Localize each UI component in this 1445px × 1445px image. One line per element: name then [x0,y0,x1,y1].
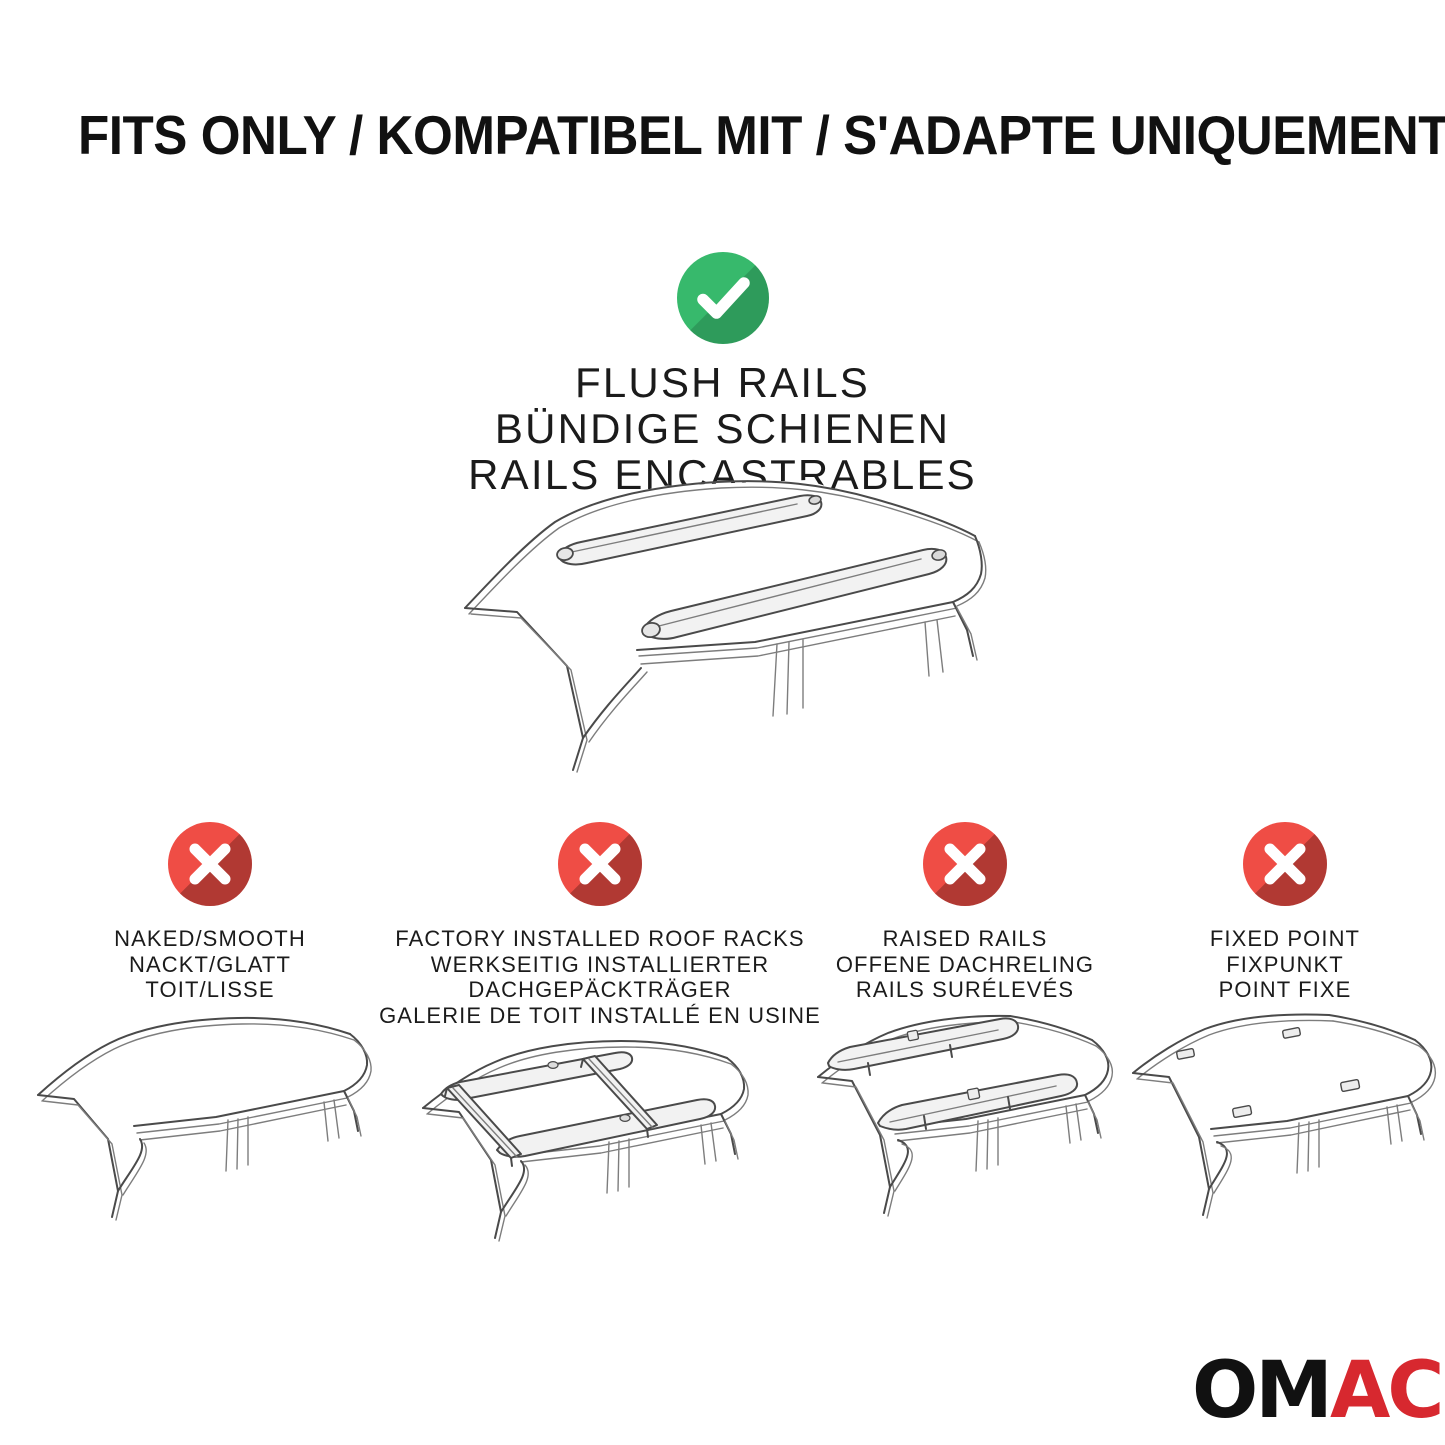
check-icon [677,252,769,344]
incompatible-labels: NAKED/SMOOTH NACKT/GLATT TOIT/LISSE [30,926,390,1003]
badge-wrapper [800,822,1130,926]
incompatible-item-fixed-point: FIXED POINT FIXPUNKT POINT FIXE [1125,822,1445,1228]
incompatible-labels: FIXED POINT FIXPUNKT POINT FIXE [1125,926,1445,1003]
label-fr: RAILS SURÉLEVÉS [800,977,1130,1003]
label-en: FIXED POINT [1125,926,1445,952]
cross-icon [558,822,642,906]
cross-icon [923,822,1007,906]
raised-rails-drawing [800,1013,1130,1228]
cross-glyph [923,822,1007,906]
car-roof-naked-illustration [30,1013,390,1228]
incompatible-section: NAKED/SMOOTH NACKT/GLATT TOIT/LISSE [0,822,1445,1252]
compatible-label-de: BÜNDIGE SCHIENEN [0,406,1445,452]
flush-rails-drawing [455,470,1000,780]
incompatible-labels: RAISED RAILS OFFENE DACHRELING RAILS SUR… [800,926,1130,1003]
omac-logo: OMAC [1192,1352,1442,1430]
incompatible-labels: FACTORY INSTALLED ROOF RACKS WERKSEITIG … [375,926,825,1028]
label-de: OFFENE DACHRELING [800,952,1130,978]
naked-roof-drawing [30,1013,390,1228]
badge-wrapper [30,822,390,926]
cross-glyph [168,822,252,906]
label-en: RAISED RAILS [800,926,1130,952]
badge-wrapper [375,822,825,926]
label-de: FIXPUNKT [1125,952,1445,978]
label-fr: TOIT/LISSE [30,977,390,1003]
car-roof-with-flush-rails-illustration [455,470,1000,780]
label-de-1: WERKSEITIG INSTALLIERTER [375,952,825,978]
cross-icon [168,822,252,906]
incompatible-item-factory-roof-rack: FACTORY INSTALLED ROOF RACKS WERKSEITIG … [375,822,825,1253]
label-de-2: DACHGEPÄCKTRÄGER [375,977,825,1003]
compatible-label-en: FLUSH RAILS [0,360,1445,406]
cross-glyph [1243,822,1327,906]
compatible-section: FLUSH RAILS BÜNDIGE SCHIENEN RAILS ENCAS… [0,252,1445,498]
factory-rack-drawing [375,1038,825,1253]
label-en: NAKED/SMOOTH [30,926,390,952]
car-roof-with-fixed-points-illustration [1125,1013,1445,1228]
logo-text-dark: OM [1192,1346,1330,1436]
label-de: NACKT/GLATT [30,952,390,978]
cross-icon [1243,822,1327,906]
logo-text-red: AC [1330,1346,1442,1436]
car-roof-with-factory-roof-rack-illustration [375,1038,825,1253]
label-fr: GALERIE DE TOIT INSTALLÉ EN USINE [375,1003,825,1029]
incompatible-item-naked-smooth: NAKED/SMOOTH NACKT/GLATT TOIT/LISSE [30,822,390,1228]
compatibility-infographic: FITS ONLY / KOMPATIBEL MIT / S'ADAPTE UN… [0,0,1445,1445]
check-glyph [677,252,769,344]
fixed-point-drawing [1125,1013,1445,1228]
label-fr: POINT FIXE [1125,977,1445,1003]
car-roof-with-raised-rails-illustration [800,1013,1130,1228]
badge-wrapper [1125,822,1445,926]
page-title: FITS ONLY / KOMPATIBEL MIT / S'ADAPTE UN… [78,104,1287,166]
label-en: FACTORY INSTALLED ROOF RACKS [375,926,825,952]
incompatible-item-raised-rails: RAISED RAILS OFFENE DACHRELING RAILS SUR… [800,822,1130,1228]
cross-glyph [558,822,642,906]
